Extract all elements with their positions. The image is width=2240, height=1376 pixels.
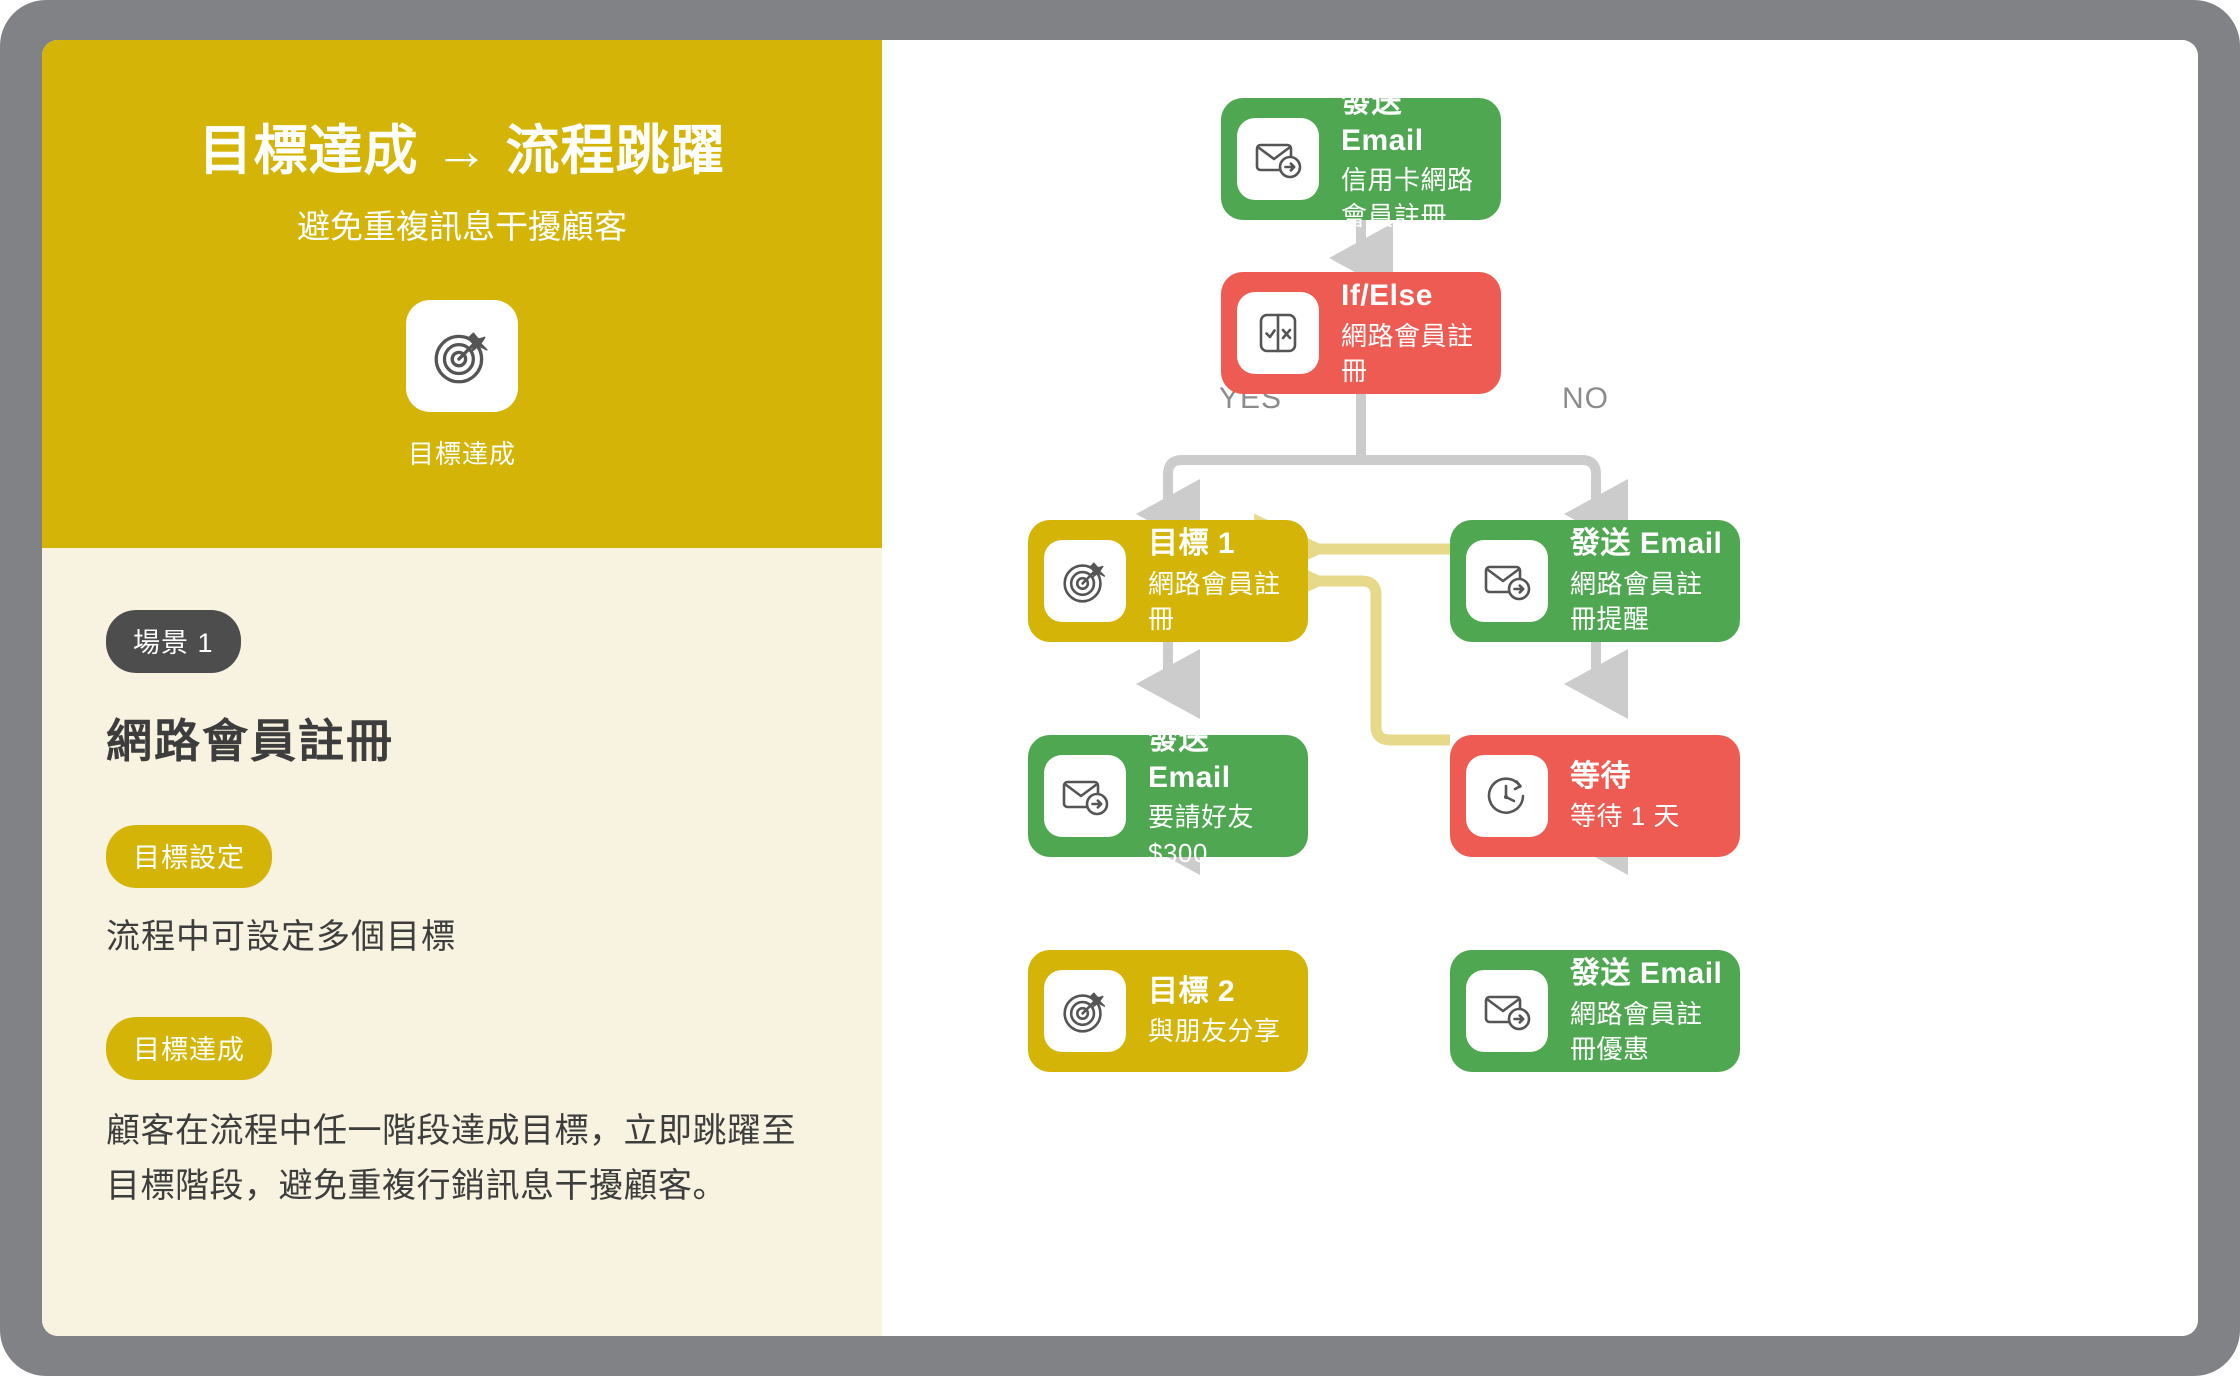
node-title: If/Else: [1341, 277, 1485, 315]
node-desc: 要請好友 $300: [1148, 800, 1292, 870]
tag-goal-achieved: 目標達成: [106, 1017, 272, 1080]
flow-node-email-remind[interactable]: 發送 Email 網路會員註冊提醒: [1450, 520, 1740, 642]
flow-node-email-offer[interactable]: 發送 Email 網路會員註冊優惠: [1450, 950, 1740, 1072]
node-desc: 等待 1 天: [1570, 799, 1680, 834]
flow-canvas: YES NO 發送 Email 信用卡網路會員註冊: [882, 40, 2156, 1332]
node-text: 發送 Email 要請好友 $300: [1148, 721, 1292, 870]
text-goal-achieved: 顧客在流程中任一階段達成目標，立即跳躍至目標階段，避免重複行銷訊息干擾顧客。: [106, 1104, 806, 1214]
node-text: 發送 Email 網路會員註冊提醒: [1570, 525, 1724, 637]
header-icon-group: 目標達成: [82, 300, 842, 471]
flow-node-wait[interactable]: 等待 等待 1 天: [1450, 735, 1740, 857]
node-desc: 網路會員註冊提醒: [1570, 567, 1724, 637]
node-desc: 與朋友分享: [1148, 1014, 1281, 1049]
node-text: 發送 Email 信用卡網路會員註冊: [1341, 84, 1485, 233]
node-title: 目標 1: [1148, 525, 1292, 563]
node-desc: 網路會員註冊: [1341, 319, 1485, 389]
node-text: 目標 2 與朋友分享: [1148, 973, 1281, 1050]
node-title: 發送 Email: [1341, 84, 1485, 159]
node-text: 發送 Email 網路會員註冊優惠: [1570, 955, 1724, 1067]
clock-icon: [1466, 755, 1548, 837]
email-send-icon: [1237, 118, 1319, 200]
email-send-icon: [1044, 755, 1126, 837]
flow-connectors: [882, 40, 2156, 1332]
node-title: 目標 2: [1148, 973, 1281, 1011]
section-goal-achieved: 目標達成 顧客在流程中任一階段達成目標，立即跳躍至目標階段，避免重複行銷訊息干擾…: [106, 963, 826, 1214]
target-icon: [1044, 540, 1126, 622]
node-title: 發送 Email: [1570, 955, 1724, 993]
node-title: 發送 Email: [1570, 525, 1724, 563]
flow-node-email-referral[interactable]: 發送 Email 要請好友 $300: [1028, 735, 1308, 857]
flow-node-if-else[interactable]: If/Else 網路會員註冊: [1221, 272, 1501, 394]
node-desc: 信用卡網路會員註冊: [1341, 163, 1485, 233]
target-icon: [406, 300, 518, 412]
email-send-icon: [1466, 970, 1548, 1052]
flowchart-panel: YES NO 發送 Email 信用卡網路會員註冊: [882, 40, 2198, 1336]
device-bezel: 目標達成 → 流程跳躍 避免重複訊息干擾顧客 目標達成: [0, 0, 2240, 1376]
node-text: 等待 等待 1 天: [1570, 758, 1680, 835]
flow-node-email-start[interactable]: 發送 Email 信用卡網路會員註冊: [1221, 98, 1501, 220]
panel-header: 目標達成 → 流程跳躍 避免重複訊息干擾顧客 目標達成: [42, 40, 882, 548]
screen: 目標達成 → 流程跳躍 避免重複訊息干擾顧客 目標達成: [42, 40, 2198, 1336]
scene-badge: 場景 1: [106, 610, 241, 673]
scene-title: 網路會員註冊: [106, 705, 826, 771]
flow-node-goal-1[interactable]: 目標 1 網路會員註冊: [1028, 520, 1308, 642]
section-goal-setting: 目標設定 流程中可設定多個目標: [106, 771, 826, 963]
if-else-icon: [1237, 292, 1319, 374]
header-icon-label: 目標達成: [408, 434, 516, 471]
node-title: 發送 Email: [1148, 721, 1292, 796]
node-desc: 網路會員註冊優惠: [1570, 997, 1724, 1067]
tag-goal-setting: 目標設定: [106, 825, 272, 888]
left-info-panel: 目標達成 → 流程跳躍 避免重複訊息干擾顧客 目標達成: [42, 40, 882, 1336]
panel-body: 場景 1 網路會員註冊 目標設定 流程中可設定多個目標 目標達成 顧客在流程中任…: [42, 548, 882, 1336]
branch-label-no: NO: [1562, 382, 1609, 416]
text-goal-setting: 流程中可設定多個目標: [106, 912, 826, 963]
node-text: If/Else 網路會員註冊: [1341, 277, 1485, 389]
email-send-icon: [1466, 540, 1548, 622]
target-icon: [1044, 970, 1126, 1052]
page-title: 目標達成 → 流程跳躍: [82, 118, 842, 186]
flow-node-goal-2[interactable]: 目標 2 與朋友分享: [1028, 950, 1308, 1072]
node-text: 目標 1 網路會員註冊: [1148, 525, 1292, 637]
page-subtitle: 避免重複訊息干擾顧客: [82, 204, 842, 250]
node-desc: 網路會員註冊: [1148, 567, 1292, 637]
node-title: 等待: [1570, 758, 1680, 796]
